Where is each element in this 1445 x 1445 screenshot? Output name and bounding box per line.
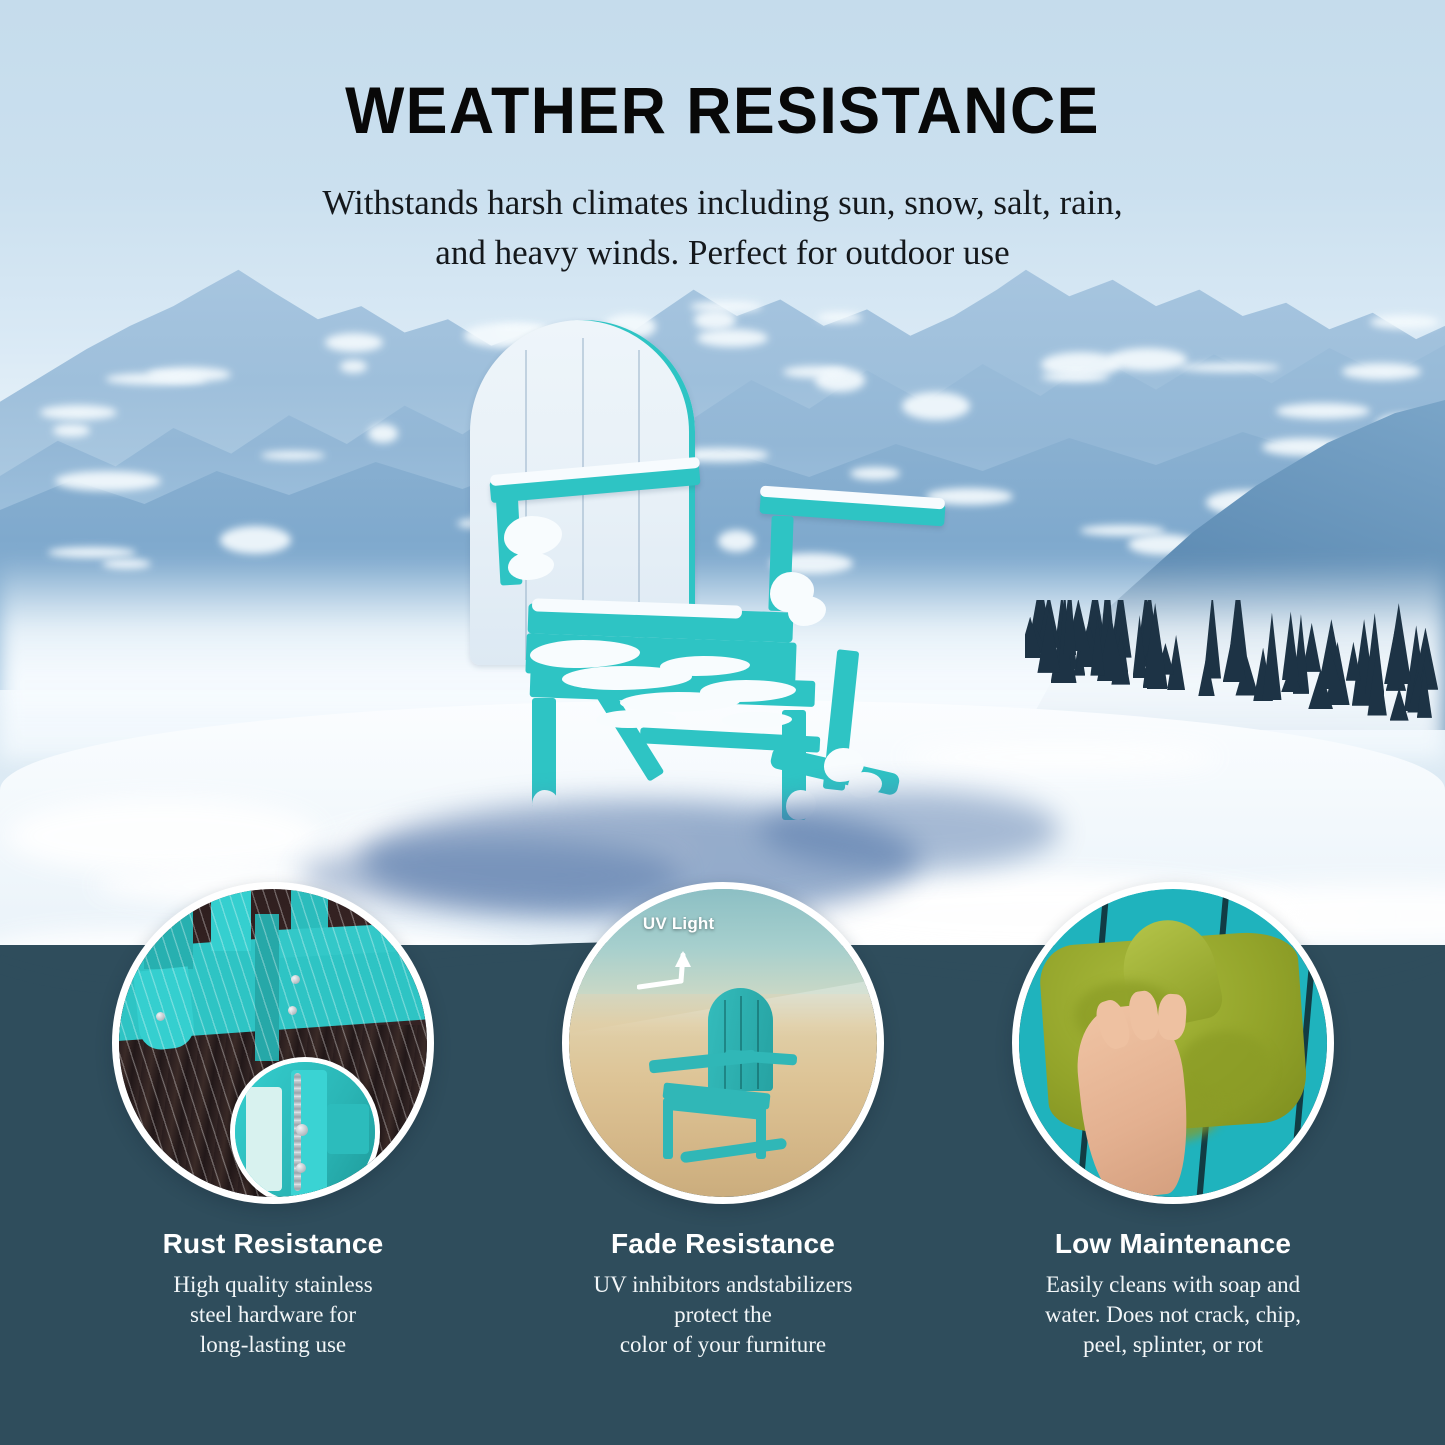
- feature-title: Rust Resistance: [108, 1228, 438, 1260]
- hardware-closeup-inset: [230, 1057, 380, 1197]
- feature-desc-line-3: long-lasting use: [108, 1330, 438, 1360]
- page-subtitle: Withstands harsh climates including sun,…: [0, 178, 1445, 277]
- feature-title: Fade Resistance: [558, 1228, 888, 1260]
- feature-desc-line-3: color of your furniture: [558, 1330, 888, 1360]
- feature-circles: UV Light: [0, 882, 1445, 1212]
- feature-title: Low Maintenance: [1008, 1228, 1338, 1260]
- feature-desc-line-2: water. Does not crack, chip,: [1008, 1300, 1338, 1330]
- feature-desc-line-2: steel hardware for: [108, 1300, 438, 1330]
- feature-text-low-maintenance: Low Maintenance Easily cleans with soap …: [1008, 1228, 1338, 1360]
- feature-desc-line-1: UV inhibitors andstabilizers: [558, 1270, 888, 1300]
- feature-image-low-maintenance[interactable]: [1012, 882, 1334, 1204]
- page-title: WEATHER RESISTANCE: [36, 72, 1409, 148]
- feature-description: Easily cleans with soap and water. Does …: [1008, 1270, 1338, 1360]
- feature-text-fade-resistance: Fade Resistance UV inhibitors andstabili…: [558, 1228, 888, 1360]
- feature-desc-line-1: Easily cleans with soap and: [1008, 1270, 1338, 1300]
- feature-desc-line-3: peel, splinter, or rot: [1008, 1330, 1338, 1360]
- uv-light-label: UV Light: [643, 914, 714, 934]
- feature-image-fade-resistance[interactable]: UV Light: [562, 882, 884, 1204]
- feature-desc-line-2: protect the: [558, 1300, 888, 1330]
- infographic-root: UV Light: [0, 0, 1445, 1445]
- feature-image-rust-resistance[interactable]: [112, 882, 434, 1204]
- feature-description: High quality stainless steel hardware fo…: [108, 1270, 438, 1360]
- page-subtitle-line-1: Withstands harsh climates including sun,…: [0, 178, 1445, 228]
- feature-text-rust-resistance: Rust Resistance High quality stainless s…: [108, 1228, 438, 1360]
- page-subtitle-line-2: and heavy winds. Perfect for outdoor use: [0, 228, 1445, 278]
- beach-chair-graphic: [649, 988, 821, 1167]
- feature-description: UV inhibitors andstabilizers protect the…: [558, 1270, 888, 1360]
- feature-desc-line-1: High quality stainless: [108, 1270, 438, 1300]
- hero-chair: [470, 320, 950, 850]
